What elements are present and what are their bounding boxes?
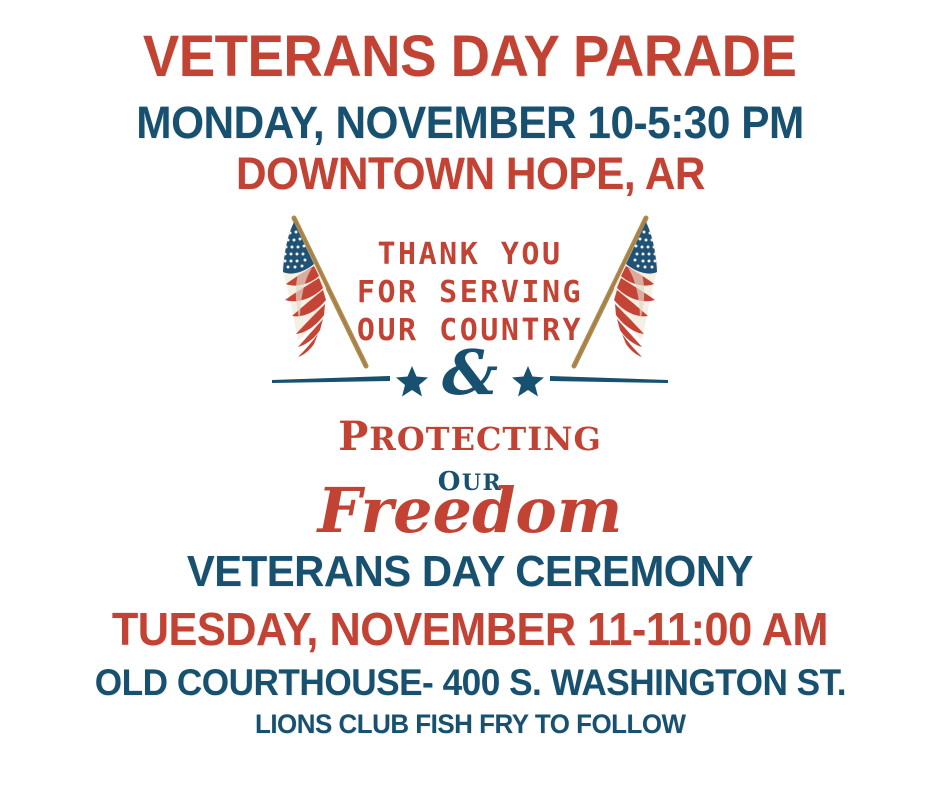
ceremony-datetime: TUESDAY, NOVEMBER 11-11:00 AM (112, 606, 828, 652)
divider-ornament: & (272, 336, 668, 409)
veterans-day-flyer: VETERANS DAY PARADE MONDAY, NOVEMBER 10-… (0, 0, 940, 788)
star-left (396, 366, 428, 397)
protecting-text: PROTECTING (338, 413, 602, 460)
thank-you-line-2: FOR SERVING (357, 275, 583, 310)
divider-rule-left (272, 376, 390, 383)
parade-location: DOWNTOWN HOPE, AR (235, 151, 704, 196)
ceremony-address: OLD COURTHOUSE- 400 S. WASHINGTON ST. (94, 664, 845, 701)
parade-title: VETERANS DAY PARADE (143, 28, 797, 86)
ceremony-title: VETERANS DAY CEREMONY (187, 550, 753, 594)
ceremony-footnote: LIONS CLUB FISH FRY TO FOLLOW (255, 711, 686, 738)
american-flag-left (282, 218, 366, 366)
ampersand: & (442, 336, 498, 409)
american-flag-right (574, 218, 658, 366)
patriotic-emblem: THANK YOU FOR SERVING OUR COUNTRY & PROT… (240, 206, 700, 546)
divider-rule-right (550, 376, 668, 383)
thank-you-line-1: THANK YOU (377, 237, 562, 272)
star-right (512, 366, 544, 397)
freedom-text: Freedom (316, 474, 623, 546)
parade-datetime: MONDAY, NOVEMBER 10-5:30 PM (136, 100, 803, 145)
